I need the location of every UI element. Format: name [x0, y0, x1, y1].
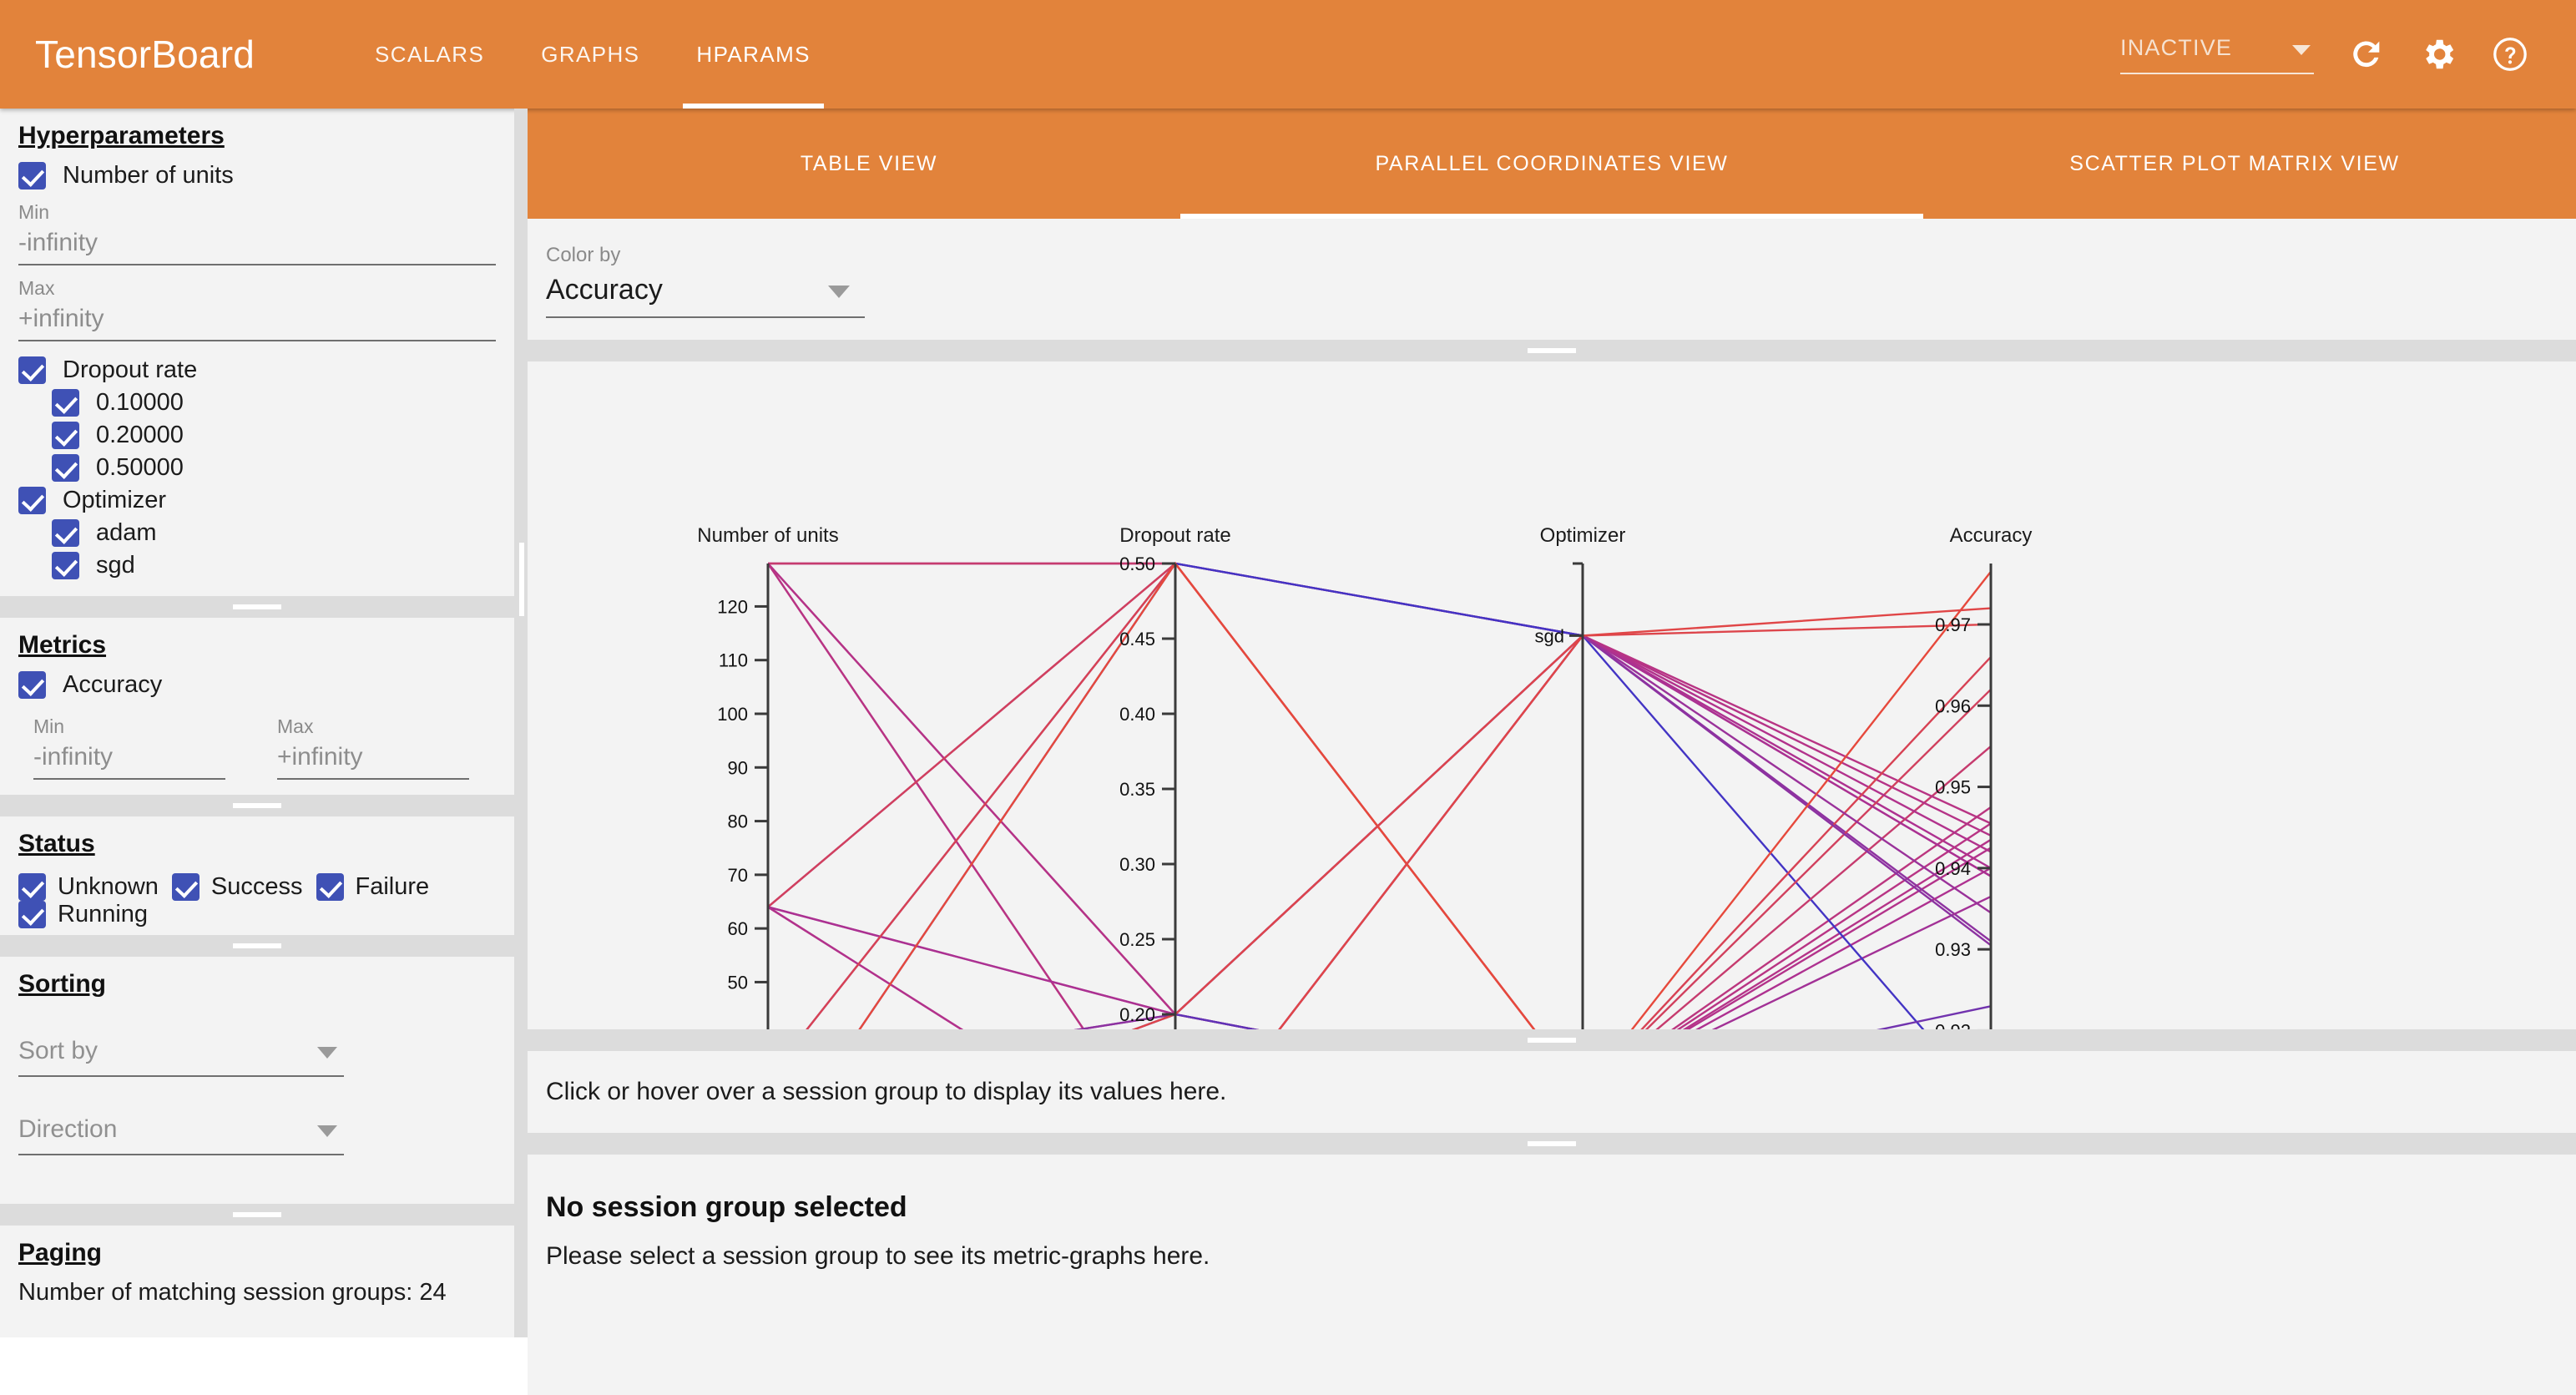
dropout-option-row[interactable]: 0.10000 — [18, 389, 496, 417]
nav-tab-hparams[interactable]: HPARAMS — [668, 0, 838, 109]
panel-splitter-colorby[interactable] — [528, 340, 2576, 361]
hparam-dropout-rate-row[interactable]: Dropout rate — [18, 356, 496, 384]
pc-line[interactable] — [768, 564, 1991, 1029]
axis-tick-label: sgd — [1535, 625, 1564, 646]
sorting-title: Sorting — [18, 970, 496, 998]
tab-table-view[interactable]: TABLE VIEW — [528, 109, 1210, 219]
accuracy-min-underline — [33, 778, 225, 780]
pc-line[interactable] — [768, 1006, 1991, 1029]
checkbox-accuracy[interactable] — [18, 671, 46, 699]
color-by-panel: Color by Accuracy — [528, 219, 2576, 340]
pc-line[interactable] — [768, 897, 1991, 1029]
axis-tick-label: 0.50 — [1119, 553, 1155, 574]
dropout-option-row[interactable]: 0.50000 — [18, 454, 496, 482]
pc-line[interactable] — [768, 564, 1991, 1029]
number-of-units-max-field[interactable]: Max +infinity — [18, 277, 496, 341]
number-of-units-min-field[interactable]: Min -infinity — [18, 201, 496, 265]
number-of-units-min-label: Min — [18, 201, 496, 224]
number-of-units-min-underline — [18, 264, 496, 265]
direction-underline — [18, 1154, 344, 1155]
app-header: TensorBoard SCALARS GRAPHS HPARAMS INACT… — [0, 0, 2576, 109]
pc-line[interactable] — [768, 609, 1991, 1029]
dropout-option-label: 0.20000 — [96, 422, 184, 449]
splitter-handle — [233, 943, 281, 948]
splitter-handle — [233, 604, 281, 609]
axis-tick-label: 110 — [719, 650, 748, 671]
axis-tick-label: 0.40 — [1119, 704, 1155, 725]
pc-line[interactable] — [768, 564, 1991, 1029]
primary-nav: SCALARS GRAPHS HPARAMS — [346, 0, 839, 109]
pc-line[interactable] — [768, 564, 1991, 907]
chevron-down-icon — [828, 286, 850, 298]
checkbox-dropout-0-5[interactable] — [52, 454, 79, 482]
run-selector-value: INACTIVE — [2120, 35, 2314, 73]
hparam-number-of-units-row[interactable]: Number of units — [18, 162, 496, 190]
status-option-failure[interactable]: Failure — [316, 873, 430, 901]
axis-tick-label: 0.20 — [1119, 1004, 1155, 1025]
checkbox-status-success[interactable] — [172, 873, 200, 901]
metric-accuracy-label: Accuracy — [63, 671, 162, 699]
color-by-label: Color by — [546, 244, 2558, 267]
tab-parallel-coordinates-view[interactable]: PARALLEL COORDINATES VIEW — [1210, 109, 1893, 219]
axis-tick-label: 100 — [717, 704, 748, 725]
status-title: Status — [18, 830, 496, 858]
axis-title: Optimizer — [1540, 524, 1626, 547]
optimizer-option-label: sgd — [96, 552, 135, 579]
axis-tick-label: 50 — [728, 972, 748, 993]
axis-tick-label: 70 — [728, 865, 748, 886]
checkbox-status-failure[interactable] — [316, 873, 344, 901]
axis-tick-label: 0.35 — [1119, 779, 1155, 800]
pc-line[interactable] — [768, 823, 1991, 1029]
nav-tab-scalars[interactable]: SCALARS — [346, 0, 513, 109]
checkbox-optimizer-adam[interactable] — [52, 519, 79, 547]
status-options: Unknown Success Failure Running — [18, 870, 496, 932]
axis-tick-label: 0.92 — [1935, 1020, 1971, 1029]
color-by-underline — [546, 316, 865, 318]
main-content: Color by Accuracy Number of units2030405… — [528, 219, 2576, 1337]
color-by-select[interactable]: Accuracy — [546, 274, 865, 318]
splitter-handle — [519, 543, 524, 616]
chevron-down-icon — [317, 1125, 337, 1137]
axis-tick-label: 0.94 — [1935, 858, 1971, 879]
axis-tick-label: 80 — [728, 811, 748, 832]
sorting-card: Sorting Sort by Direction — [0, 957, 514, 1204]
number-of-units-min-value: -infinity — [18, 229, 496, 264]
hparam-optimizer-label: Optimizer — [63, 487, 166, 514]
help-circle-icon[interactable] — [2491, 35, 2529, 73]
accuracy-max-label: Max — [277, 715, 469, 738]
checkbox-optimizer-sgd[interactable] — [52, 552, 79, 579]
pc-axis[interactable]: Accuracy0.910.920.930.940.950.960.97 — [1935, 524, 2032, 1029]
panel-splitter-chart[interactable] — [528, 1029, 2576, 1051]
accuracy-min-field[interactable]: Min -infinity — [33, 715, 225, 780]
pc-line[interactable] — [768, 564, 1991, 1029]
number-of-units-max-underline — [18, 340, 496, 341]
axis-tick-label: 0.93 — [1935, 939, 1971, 960]
status-option-unknown[interactable]: Unknown — [18, 873, 159, 901]
pc-line[interactable] — [768, 564, 1991, 1029]
axis-tick-label: 120 — [717, 596, 748, 617]
pc-line[interactable] — [768, 564, 1991, 1029]
header-actions: INACTIVE — [2120, 35, 2529, 74]
session-values-panel: Click or hover over a session group to d… — [528, 1051, 2576, 1133]
axis-tick-label: 0.45 — [1119, 629, 1155, 649]
direction-placeholder: Direction — [18, 1115, 344, 1154]
matching-session-groups-count: Number of matching session groups: 24 — [18, 1279, 496, 1307]
number-of-units-max-value: +infinity — [18, 305, 496, 340]
hyperparameters-title: Hyperparameters — [18, 122, 496, 150]
view-tab-bar: TABLE VIEW PARALLEL COORDINATES VIEW SCA… — [528, 109, 2576, 219]
pc-line[interactable] — [768, 564, 1991, 868]
hover-hint-text: Click or hover over a session group to d… — [528, 1051, 2576, 1133]
axis-title: Accuracy — [1950, 524, 2033, 547]
accuracy-min-label: Min — [33, 715, 225, 738]
dropout-option-label: 0.10000 — [96, 389, 184, 417]
run-selector-underline — [2120, 73, 2314, 74]
settings-gear-icon[interactable] — [2419, 35, 2457, 73]
accuracy-max-value: +infinity — [277, 743, 469, 778]
splitter-handle — [233, 803, 281, 808]
pc-axis[interactable]: Dropout rate0.100.150.200.250.300.350.40… — [1119, 524, 1231, 1029]
sidebar-main-splitter[interactable] — [514, 109, 528, 1337]
pc-line[interactable] — [768, 564, 1991, 1029]
refresh-icon[interactable] — [2347, 35, 2386, 73]
axis-tick-label: 0.95 — [1935, 777, 1971, 798]
axis-tick-label: 60 — [728, 918, 748, 939]
paging-title: Paging — [18, 1239, 496, 1267]
number-of-units-max-label: Max — [18, 277, 496, 300]
axis-tick-label: 90 — [728, 757, 748, 778]
checkbox-dropout-0-2[interactable] — [52, 422, 79, 449]
metrics-card: Metrics Accuracy Min -infinity Max +infi… — [0, 618, 514, 795]
status-option-label: Success — [211, 873, 303, 901]
pc-axis[interactable]: Number of units2030405060708090100110120 — [697, 524, 838, 1029]
checkbox-dropout-0-1[interactable] — [52, 389, 79, 417]
optimizer-option-row[interactable]: adam — [18, 519, 496, 547]
axis-title: Dropout rate — [1119, 524, 1230, 547]
session-group-panel: No session group selected Please select … — [528, 1155, 2576, 1395]
panel-splitter-hover[interactable] — [528, 1133, 2576, 1155]
sort-by-underline — [18, 1075, 344, 1077]
optimizer-option-label: adam — [96, 519, 157, 547]
splitter-handle — [1528, 1038, 1576, 1043]
direction-select[interactable]: Direction — [18, 1115, 344, 1155]
axis-tick-label: 0.96 — [1935, 695, 1971, 716]
status-option-success[interactable]: Success — [172, 873, 303, 901]
checkbox-status-running[interactable] — [18, 901, 46, 928]
dropout-option-label: 0.50000 — [96, 454, 184, 482]
filter-sidebar: Hyperparameters Number of units Min -inf… — [0, 109, 514, 1337]
sort-by-select[interactable]: Sort by — [18, 1037, 344, 1077]
checkbox-status-unknown[interactable] — [18, 873, 46, 901]
chevron-down-icon — [317, 1047, 337, 1059]
chevron-down-icon — [2292, 45, 2311, 55]
sidebar-splitter-sorting[interactable] — [0, 1204, 514, 1226]
parallel-coordinates-plot[interactable]: Number of units2030405060708090100110120… — [528, 361, 2576, 1029]
splitter-handle — [233, 1212, 281, 1217]
optimizer-option-row[interactable]: sgd — [18, 552, 496, 579]
session-group-text: Please select a session group to see its… — [546, 1242, 2558, 1271]
paging-card: Paging Number of matching session groups… — [0, 1226, 514, 1337]
checkbox-dropout-rate[interactable] — [18, 356, 46, 384]
accuracy-min-value: -infinity — [33, 743, 225, 778]
sidebar-splitter-hparams[interactable] — [0, 596, 514, 618]
splitter-handle — [1528, 1141, 1576, 1146]
axis-tick-label: 0.25 — [1119, 929, 1155, 950]
pc-axis[interactable]: Optimizeradamsgd — [1518, 524, 1625, 1029]
hparam-dropout-rate-label: Dropout rate — [63, 356, 197, 384]
pc-line[interactable] — [768, 564, 1991, 1029]
checkbox-optimizer[interactable] — [18, 487, 46, 514]
accuracy-max-field[interactable]: Max +infinity — [277, 715, 469, 780]
status-option-label: Unknown — [58, 873, 159, 901]
hparam-optimizer-row[interactable]: Optimizer — [18, 487, 496, 514]
status-card: Status Unknown Success Failure Running — [0, 816, 514, 935]
session-group-title: No session group selected — [546, 1191, 2558, 1224]
hparam-number-of-units-label: Number of units — [63, 162, 234, 190]
sort-by-placeholder: Sort by — [18, 1037, 344, 1075]
sidebar-splitter-metrics[interactable] — [0, 795, 514, 816]
nav-tab-graphs[interactable]: GRAPHS — [513, 0, 668, 109]
run-selector[interactable]: INACTIVE — [2120, 35, 2314, 74]
status-option-label: Running — [58, 901, 148, 928]
splitter-handle — [1528, 348, 1576, 353]
color-by-value: Accuracy — [546, 274, 865, 316]
axis-tick-label: 0.97 — [1935, 614, 1971, 635]
accuracy-max-underline — [277, 778, 469, 780]
app-title: TensorBoard — [35, 32, 255, 77]
checkbox-number-of-units[interactable] — [18, 162, 46, 190]
tab-scatter-plot-matrix-view[interactable]: SCATTER PLOT MATRIX VIEW — [1893, 109, 2576, 219]
pc-line[interactable] — [768, 564, 1991, 1029]
sidebar-splitter-status[interactable] — [0, 935, 514, 957]
axis-tick-label: 0.30 — [1119, 854, 1155, 875]
parallel-coordinates-chart-panel[interactable]: Number of units2030405060708090100110120… — [528, 361, 2576, 1029]
hyperparameters-card: Hyperparameters Number of units Min -inf… — [0, 109, 514, 596]
metric-accuracy-row[interactable]: Accuracy — [18, 671, 496, 699]
axis-title: Number of units — [697, 524, 838, 547]
status-option-label: Failure — [356, 873, 430, 901]
metrics-title: Metrics — [18, 631, 496, 660]
status-option-running[interactable]: Running — [18, 901, 496, 928]
dropout-option-row[interactable]: 0.20000 — [18, 422, 496, 449]
